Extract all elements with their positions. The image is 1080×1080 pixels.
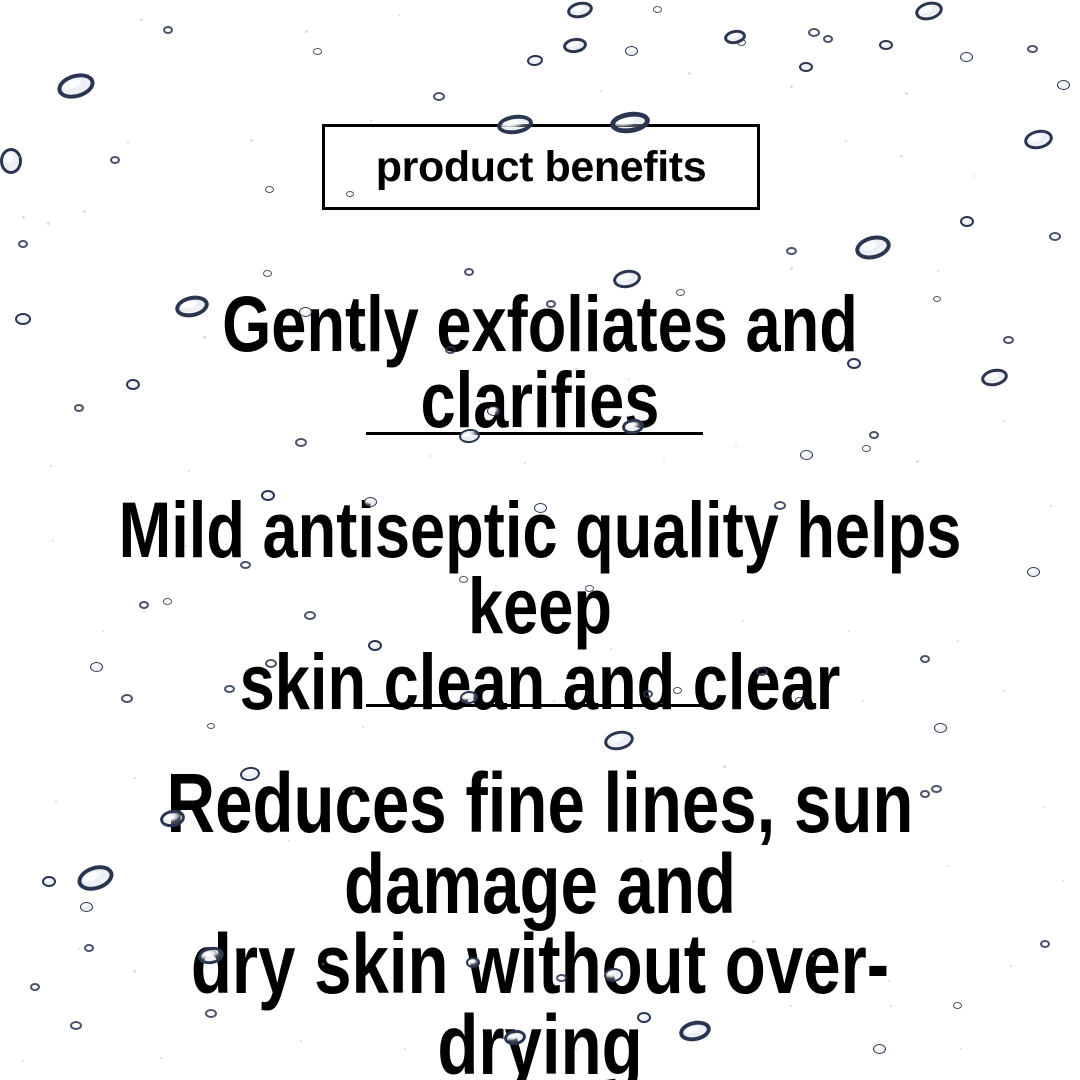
bubble-icon	[207, 723, 215, 729]
bubble-icon	[84, 944, 94, 952]
bubble-icon	[1040, 940, 1050, 948]
bubble-icon	[433, 92, 445, 101]
speck-icon	[102, 630, 104, 632]
bubble-icon	[1003, 336, 1014, 344]
speck-icon	[370, 120, 372, 122]
bubble-icon	[263, 270, 272, 277]
bubble-icon	[799, 62, 813, 72]
bubble-icon	[980, 366, 1010, 388]
benefit-item-1: Gently exfoliates and clarifies	[108, 286, 972, 438]
bubble-icon	[464, 268, 474, 276]
bubble-icon	[265, 186, 274, 193]
speck-icon	[55, 800, 57, 802]
bubble-icon	[1049, 232, 1061, 241]
speck-icon	[1010, 965, 1012, 967]
bubble-icon	[70, 1021, 82, 1030]
speck-icon	[790, 267, 793, 270]
speck-icon	[1050, 505, 1052, 507]
section-header-box: product benefits	[322, 124, 760, 210]
bubble-icon	[295, 438, 307, 447]
speck-icon	[905, 92, 908, 95]
speck-icon	[916, 460, 919, 463]
bubble-icon	[110, 156, 120, 164]
bubble-icon	[526, 54, 543, 67]
bubble-icon	[913, 0, 945, 23]
bubble-icon	[786, 247, 797, 255]
speck-icon	[1043, 806, 1045, 808]
bubble-icon	[800, 450, 813, 460]
speck-icon	[52, 540, 54, 542]
speck-icon	[1062, 880, 1064, 882]
speck-icon	[688, 72, 691, 75]
bubble-icon	[823, 35, 833, 43]
speck-icon	[845, 140, 847, 142]
bubble-icon	[625, 46, 638, 56]
bubble-icon	[737, 39, 746, 46]
benefit-item-3: Reduces fine lines, sun damage and dry s…	[108, 763, 972, 1080]
speck-icon	[127, 142, 129, 144]
speck-icon	[900, 155, 903, 158]
speck-icon	[22, 216, 25, 219]
bubble-icon	[42, 876, 56, 887]
speck-icon	[362, 726, 364, 728]
speck-icon	[398, 14, 400, 16]
product-benefits-graphic: product benefits Gently exfoliates and c…	[0, 0, 1080, 1080]
speck-icon	[1003, 690, 1005, 692]
bubble-icon	[879, 40, 893, 50]
bubble-icon	[54, 69, 97, 103]
speck-icon	[188, 470, 190, 472]
bubble-icon	[1057, 80, 1070, 90]
bubble-icon	[18, 240, 28, 248]
speck-icon	[305, 30, 308, 33]
speck-icon	[524, 462, 526, 464]
speck-icon	[1003, 420, 1005, 422]
benefit-item-2: Mild antiseptic quality helps keep skin …	[108, 492, 972, 719]
speck-icon	[50, 465, 52, 467]
bubble-icon	[1027, 45, 1038, 53]
speck-icon	[78, 948, 80, 950]
bubble-icon	[0, 148, 22, 174]
bubble-icon	[653, 6, 662, 13]
speck-icon	[250, 139, 253, 142]
bubble-icon	[862, 445, 871, 452]
speck-icon	[790, 85, 793, 88]
bubble-icon	[163, 26, 173, 34]
bubble-icon	[80, 902, 93, 912]
bubble-icon	[566, 0, 595, 21]
benefit-divider-2	[366, 704, 703, 707]
bubble-icon	[1022, 127, 1054, 152]
bubble-icon	[562, 36, 588, 54]
speck-icon	[600, 90, 602, 92]
page-title: product benefits	[376, 146, 706, 189]
bubble-icon	[853, 232, 893, 263]
bubble-icon	[30, 983, 40, 991]
bubble-icon	[808, 28, 820, 37]
speck-icon	[937, 270, 939, 272]
bubble-icon	[1027, 567, 1040, 577]
speck-icon	[18, 156, 20, 158]
speck-icon	[735, 445, 737, 447]
speck-icon	[83, 210, 86, 213]
speck-icon	[140, 18, 143, 21]
benefit-divider-1	[366, 432, 703, 435]
bubble-icon	[602, 728, 635, 753]
speck-icon	[430, 455, 432, 457]
speck-icon	[973, 175, 975, 177]
speck-icon	[663, 460, 665, 462]
bubble-icon	[960, 52, 973, 62]
bubble-icon	[960, 216, 974, 227]
speck-icon	[22, 1060, 24, 1062]
speck-icon	[47, 222, 50, 225]
bubble-icon	[313, 48, 322, 55]
bubble-icon	[934, 723, 947, 733]
bubble-icon	[15, 313, 31, 325]
bubble-icon	[90, 662, 103, 672]
bubble-icon	[74, 404, 84, 412]
bubble-icon	[723, 28, 747, 46]
